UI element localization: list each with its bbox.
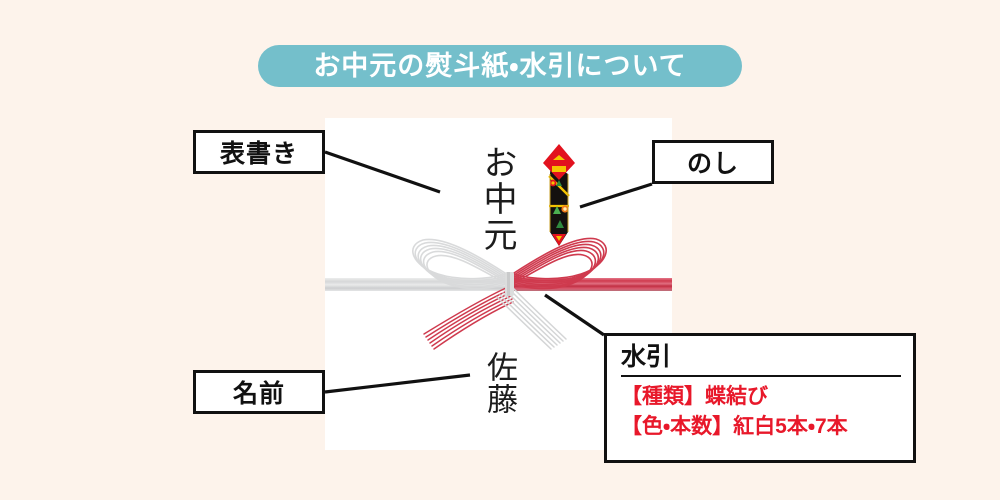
page-title-banner: お中元の熨斗紙・水引について <box>258 45 742 87</box>
callout-box-noshi[interactable]: のし <box>652 140 774 184</box>
sender-name: 佐藤 <box>477 338 517 428</box>
callout-box-namae[interactable]: 名前 <box>193 370 325 414</box>
mizuhiki-info-row-color-count: 【色・本数】紅白5本・7本 <box>621 413 901 441</box>
mizuhiki-info-title: 水引 <box>621 342 901 377</box>
mizuhiki-info-box[interactable]: 水引 【種類】蝶結び 【色・本数】紅白5本・7本 <box>604 333 916 463</box>
callout-label-noshi: のし <box>687 144 739 180</box>
callout-label-omotegaki: 表書き <box>220 134 298 170</box>
page-title: お中元の熨斗紙・水引について <box>313 53 686 80</box>
callout-label-namae: 名前 <box>233 374 285 410</box>
callout-box-omotegaki[interactable]: 表書き <box>193 130 325 174</box>
omotegaki-text: お中元 <box>472 134 516 264</box>
mizuhiki-info-row-type: 【種類】蝶結び <box>621 383 901 411</box>
infographic-canvas: お中元の熨斗紙・水引について <box>0 0 1000 500</box>
